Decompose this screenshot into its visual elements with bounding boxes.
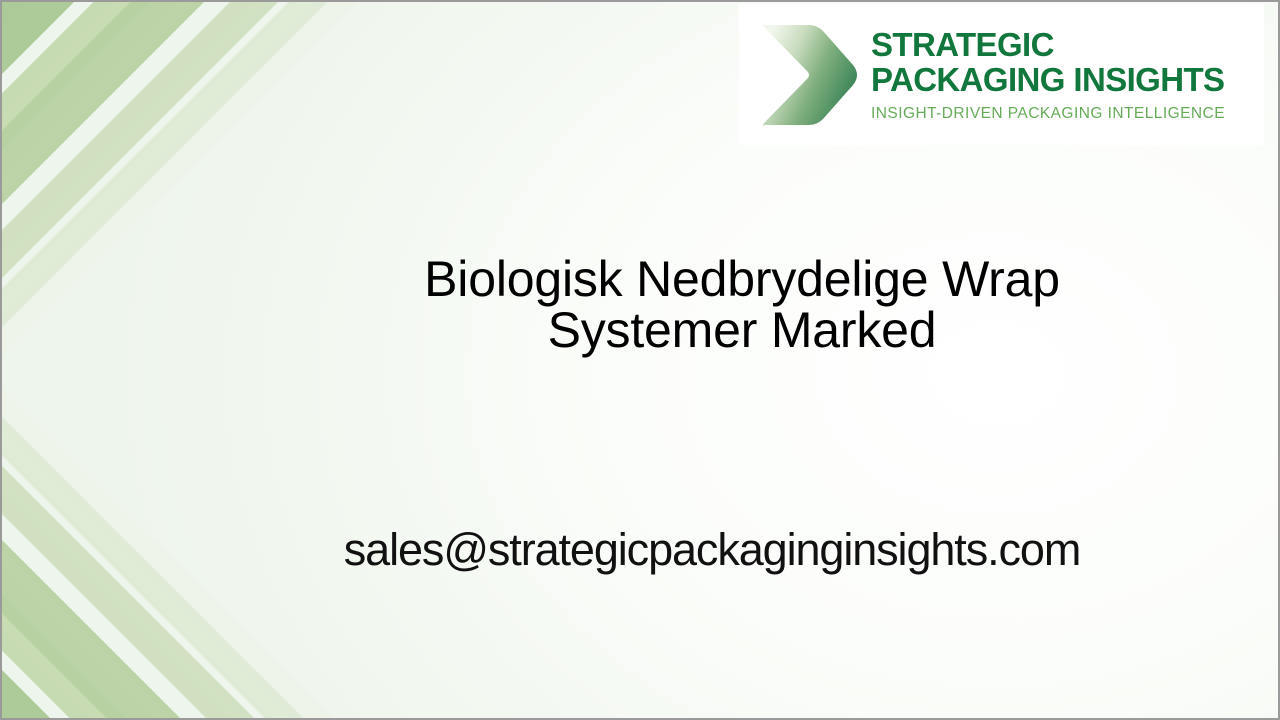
chevron-band-pattern bbox=[2, 2, 622, 720]
contact-email: sales@strategicpackaginginsights.com bbox=[182, 521, 1242, 579]
logo-wordmark: STRATEGIC PACKAGING INSIGHTS INSIGHT-DRI… bbox=[871, 25, 1225, 125]
logo-line-2: PACKAGING INSIGHTS bbox=[871, 62, 1225, 97]
page-title: Biologisk Nedbrydelige Wrap Systemer Mar… bbox=[362, 254, 1122, 356]
logo-tagline: INSIGHT-DRIVEN PACKAGING INTELLIGENCE bbox=[871, 103, 1225, 125]
company-logo: STRATEGIC PACKAGING INSIGHTS INSIGHT-DRI… bbox=[739, 4, 1264, 145]
presentation-slide: STRATEGIC PACKAGING INSIGHTS INSIGHT-DRI… bbox=[0, 0, 1280, 720]
logo-line-1: STRATEGIC bbox=[871, 27, 1225, 62]
chevron-right-icon bbox=[747, 15, 865, 135]
